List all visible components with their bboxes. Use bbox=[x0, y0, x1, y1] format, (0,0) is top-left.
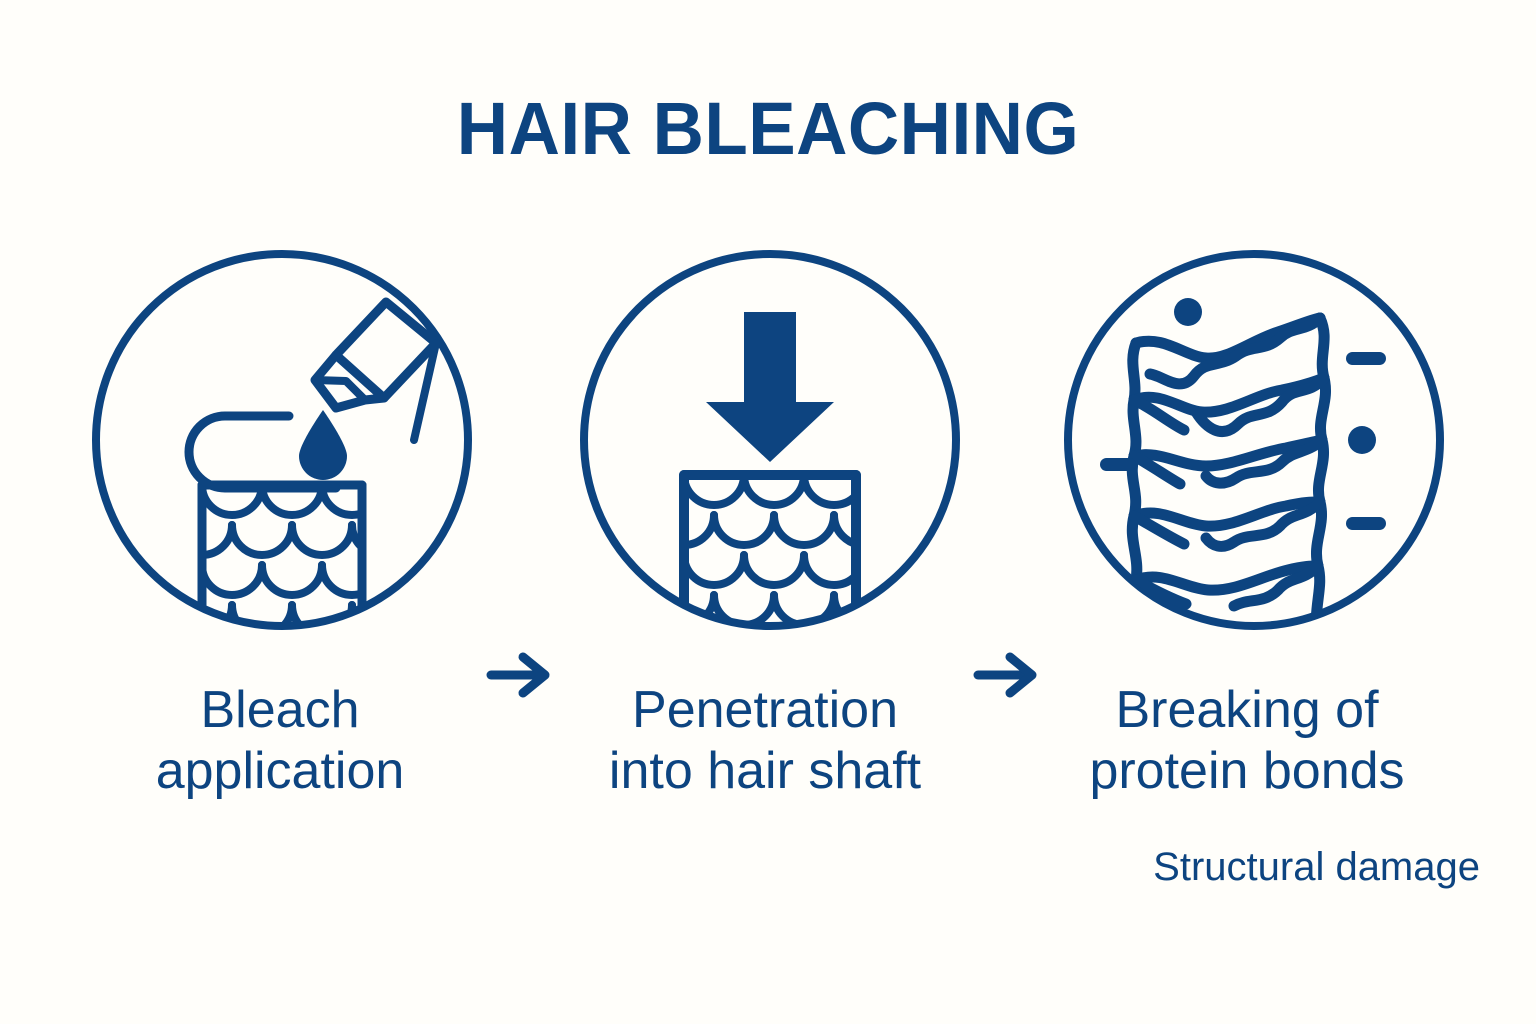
bond-dash-icon bbox=[1100, 458, 1136, 471]
step-penetration bbox=[572, 240, 968, 640]
page-title: HAIR BLEACHING bbox=[31, 86, 1506, 171]
bond-dash-icon bbox=[1346, 352, 1386, 365]
bleach-application-icon bbox=[84, 240, 480, 640]
step-label-line-1: Penetration bbox=[632, 681, 898, 739]
step-label-line-1: Bleach bbox=[201, 681, 360, 739]
steps-row bbox=[0, 240, 1536, 660]
bond-dash-icon bbox=[1346, 517, 1386, 530]
down-arrow-icon bbox=[706, 312, 834, 462]
step-label-protein-bond-breaking: Breaking of protein bonds bbox=[1012, 680, 1482, 803]
bond-dot-icon bbox=[1348, 426, 1376, 454]
step-label-line-2: into hair shaft bbox=[530, 741, 1000, 802]
step-label-line-2: protein bonds bbox=[1012, 741, 1482, 802]
bond-dot-icon bbox=[1174, 298, 1202, 326]
damaged-hair-shaft-icon bbox=[1056, 240, 1452, 640]
step-label-line-2: application bbox=[45, 741, 515, 802]
bleach-drop-icon bbox=[299, 410, 347, 480]
penetration-icon bbox=[572, 240, 968, 640]
step-label-bleach-application: Bleach application bbox=[45, 680, 515, 803]
step-label-penetration: Penetration into hair shaft bbox=[530, 680, 1000, 803]
step-bleach-application bbox=[84, 240, 480, 640]
step-protein-bond-breaking bbox=[1056, 240, 1452, 640]
hair-bleaching-infographic: HAIR BLEACHING bbox=[0, 0, 1536, 1024]
step-label-line-1: Breaking of bbox=[1115, 681, 1378, 739]
structural-damage-sublabel: Structural damage bbox=[0, 845, 1480, 890]
labels-row: Bleach application Penetration into hair… bbox=[0, 680, 1536, 940]
